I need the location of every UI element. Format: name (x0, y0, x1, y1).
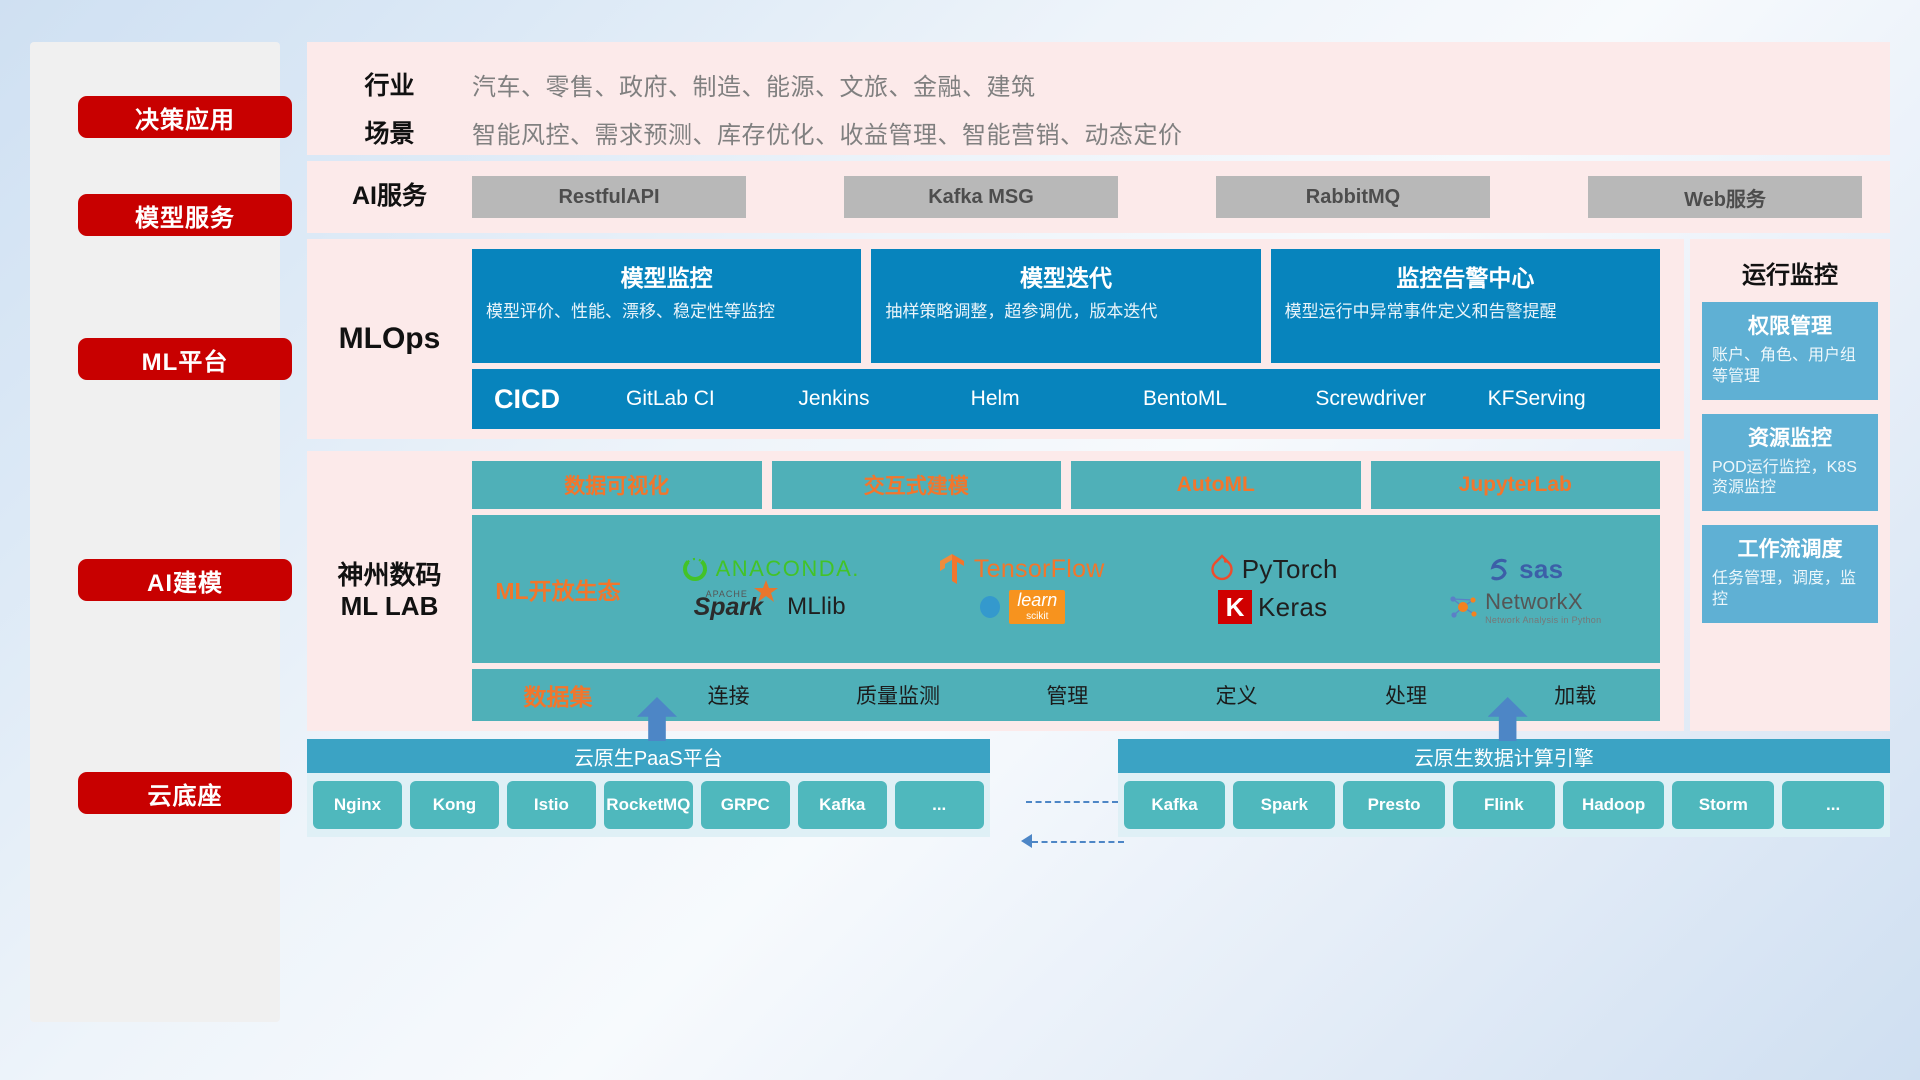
scikit-learn-logo[interactable]: learn scikit (977, 590, 1065, 624)
service-chip-kafka-msg[interactable]: Kafka MSG (844, 176, 1118, 218)
mlops-card-list: 模型监控 模型评价、性能、漂移、稳定性等监控 模型迭代 抽样策略调整，超参调优，… (472, 249, 1660, 363)
engine-chip-flink[interactable]: Flink (1453, 781, 1555, 829)
monitor-card-resource[interactable]: 资源监控 POD运行监控，K8S资源监控 (1702, 414, 1878, 512)
paas-chip-rocketmq[interactable]: RocketMQ (604, 781, 693, 829)
pytorch-flame-icon (1208, 553, 1236, 585)
ml-ecosystem-label: ML开放生态 (472, 572, 644, 606)
anaconda-mark-icon (680, 554, 710, 584)
lab-tab-jupyterlab[interactable]: JupyterLab (1371, 461, 1661, 509)
industry-label: 行业 (307, 66, 472, 102)
lab-tab-list: 数据可视化 交互式建模 AutoML JupyterLab (472, 461, 1660, 509)
card-desc: 抽样策略调整，超参调优，版本迭代 (885, 301, 1246, 323)
platform-bands: MLOps 模型监控 模型评价、性能、漂移、稳定性等监控 模型迭代 抽样策略调整… (307, 239, 1684, 731)
scikit-tag: scikit (1017, 611, 1057, 622)
lab-tab-interactive-modeling[interactable]: 交互式建模 (772, 461, 1062, 509)
architecture-stack: 行业 汽车、零售、政府、制造、能源、文旅、金融、建筑 场景 智能风控、需求预测、… (307, 42, 1890, 889)
paas-title: 云原生PaaS平台 (307, 739, 990, 773)
ml-lab-label: 神州数码 ML LAB (307, 560, 472, 621)
lab-tab-data-visualization[interactable]: 数据可视化 (472, 461, 762, 509)
scikit-blob-icon (977, 594, 1003, 620)
cloud-paas-block: 云原生PaaS平台 Nginx Kong Istio RocketMQ GRPC… (307, 739, 990, 889)
paas-chip-kong[interactable]: Kong (410, 781, 499, 829)
service-chip-restfulapi[interactable]: RestfulAPI (472, 176, 746, 218)
mllib-wordmark: MLlib (787, 593, 846, 621)
stage-chip-decision[interactable]: 决策应用 (78, 96, 292, 138)
networkx-logo[interactable]: NetworkX Network Analysis in Python (1447, 589, 1601, 625)
industry-row: 行业 汽车、零售、政府、制造、能源、文旅、金融、建筑 (307, 60, 1890, 108)
engine-chip-storm[interactable]: Storm (1672, 781, 1774, 829)
lab-tab-automl[interactable]: AutoML (1071, 461, 1361, 509)
platform-and-monitor: MLOps 模型监控 模型评价、性能、漂移、稳定性等监控 模型迭代 抽样策略调整… (307, 239, 1890, 731)
mlops-card-alert-center[interactable]: 监控告警中心 模型运行中异常事件定义和告警提醒 (1271, 249, 1660, 363)
paas-chip-grpc[interactable]: GRPC (701, 781, 790, 829)
cicd-item-bentoml[interactable]: BentoML (1143, 386, 1315, 412)
engine-chip-more[interactable]: ... (1782, 781, 1884, 829)
engine-chip-kafka[interactable]: Kafka (1124, 781, 1226, 829)
engine-chip-spark[interactable]: Spark (1233, 781, 1335, 829)
stage-chip-aimodeling[interactable]: AI建模 (78, 559, 292, 601)
service-chip-web[interactable]: Web服务 (1588, 176, 1862, 218)
scenario-label: 场景 (307, 114, 472, 150)
engine-title: 云原生数据计算引擎 (1118, 739, 1890, 773)
keras-wordmark: Keras (1258, 592, 1327, 623)
card-title: 监控告警中心 (1285, 259, 1646, 293)
paas-chip-list: Nginx Kong Istio RocketMQ GRPC Kafka ... (307, 773, 990, 837)
cloud-engine-block: 云原生数据计算引擎 Kafka Spark Presto Flink Hadoo… (1118, 739, 1890, 889)
monitor-card-permission[interactable]: 权限管理 账户、角色、用户组等管理 (1702, 302, 1878, 400)
mlops-card-model-iteration[interactable]: 模型迭代 抽样策略调整，超参调优，版本迭代 (871, 249, 1260, 363)
engine-chip-hadoop[interactable]: Hadoop (1563, 781, 1665, 829)
keras-logo[interactable]: K Keras (1218, 590, 1327, 624)
tensorflow-wordmark: TensorFlow (974, 555, 1105, 584)
dataset-item-process[interactable]: 处理 (1321, 680, 1490, 710)
dataset-item-connect[interactable]: 连接 (644, 680, 813, 710)
cicd-item-gitlab-ci[interactable]: GitLab CI (626, 386, 798, 412)
band-mlops: MLOps 模型监控 模型评价、性能、漂移、稳定性等监控 模型迭代 抽样策略调整… (307, 239, 1684, 439)
ml-lab-label-cn: 神州数码 (307, 560, 472, 591)
stage-chip-cloudbase[interactable]: 云底座 (78, 772, 292, 814)
ai-services-track: RestfulAPI Kafka MSG RabbitMQ Web服务 (472, 176, 1890, 218)
scenario-values: 智能风控、需求预测、库存优化、收益管理、智能营销、动态定价 (472, 115, 1183, 150)
dataset-item-define[interactable]: 定义 (1152, 680, 1321, 710)
card-desc: 模型运行中异常事件定义和告警提醒 (1285, 301, 1646, 323)
pytorch-wordmark: PyTorch (1242, 554, 1338, 585)
scikit-learn-wordmark: learn scikit (1009, 590, 1065, 624)
sas-logo[interactable]: sas (1485, 554, 1563, 585)
mlops-card-model-monitoring[interactable]: 模型监控 模型评价、性能、漂移、稳定性等监控 (472, 249, 861, 363)
cicd-item-kfserving[interactable]: KFServing (1488, 386, 1660, 412)
dataset-item-quality-monitoring[interactable]: 质量监测 (813, 680, 982, 710)
ai-services-label: AI服务 (307, 182, 472, 212)
ml-lab-label-en: ML LAB (307, 591, 472, 622)
paas-chip-more[interactable]: ... (895, 781, 984, 829)
stage-rail: 决策应用 模型服务 ML平台 AI建模 云底座 (30, 42, 280, 1022)
industry-values: 汽车、零售、政府、制造、能源、文旅、金融、建筑 (472, 67, 1036, 102)
card-title: 资源监控 (1712, 422, 1868, 452)
spark-mllib-logo[interactable]: APACHE Spark MLlib (694, 593, 846, 622)
sas-mark-icon (1485, 555, 1513, 583)
networkx-wordmark: NetworkX (1485, 589, 1583, 614)
ml-open-ecosystem: ML开放生态 ANACONDA. (472, 515, 1660, 663)
card-desc: 任务管理，调度，监控 (1712, 569, 1868, 611)
monitor-card-workflow[interactable]: 工作流调度 任务管理，调度，监控 (1702, 525, 1878, 623)
tensorflow-logo[interactable]: TensorFlow (938, 553, 1105, 585)
dataset-label: 数据集 (472, 678, 644, 712)
engine-chip-presto[interactable]: Presto (1343, 781, 1445, 829)
stage-chip-modelserve[interactable]: 模型服务 (78, 194, 292, 236)
cicd-item-helm[interactable]: Helm (971, 386, 1143, 412)
tensorflow-mark-icon (938, 553, 968, 585)
networkx-tagline: Network Analysis in Python (1485, 615, 1601, 625)
bidirectional-link-icon (1014, 787, 1132, 857)
runtime-monitor-panel: 运行监控 权限管理 账户、角色、用户组等管理 资源监控 POD运行监控，K8S资… (1690, 239, 1890, 731)
card-title: 权限管理 (1712, 310, 1868, 340)
card-title: 模型监控 (486, 259, 847, 293)
paas-chip-nginx[interactable]: Nginx (313, 781, 402, 829)
paas-chip-istio[interactable]: Istio (507, 781, 596, 829)
cicd-label: CICD (494, 384, 626, 415)
dataset-item-manage[interactable]: 管理 (983, 680, 1152, 710)
mlops-label: MLOps (307, 321, 472, 356)
card-desc: 账户、角色、用户组等管理 (1712, 346, 1868, 388)
band-ml-lab: 神州数码 ML LAB 数据可视化 交互式建模 AutoML JupyterLa… (307, 451, 1684, 731)
spark-apache-tag: APACHE (706, 589, 748, 599)
cicd-bar: CICD GitLab CI Jenkins Helm BentoML Scre… (472, 369, 1660, 429)
card-title: 模型迭代 (885, 259, 1246, 293)
spark-star-icon (753, 579, 779, 605)
anaconda-wordmark: ANACONDA. (716, 556, 860, 582)
cicd-item-jenkins[interactable]: Jenkins (798, 386, 970, 412)
band-cloud-base: 云原生PaaS平台 Nginx Kong Istio RocketMQ GRPC… (307, 739, 1890, 889)
runtime-monitor-title: 运行监控 (1702, 255, 1878, 290)
stage-chip-mlplatform[interactable]: ML平台 (78, 338, 292, 380)
engine-chip-list: Kafka Spark Presto Flink Hadoop Storm ..… (1118, 773, 1890, 837)
networkx-graph-icon (1447, 592, 1479, 622)
band-ai-services: AI服务 RestfulAPI Kafka MSG RabbitMQ Web服务 (307, 161, 1890, 233)
paas-chip-kafka[interactable]: Kafka (798, 781, 887, 829)
cicd-item-screwdriver[interactable]: Screwdriver (1315, 386, 1487, 412)
service-chip-rabbitmq[interactable]: RabbitMQ (1216, 176, 1490, 218)
sas-wordmark: sas (1519, 554, 1563, 585)
card-desc: 模型评价、性能、漂移、稳定性等监控 (486, 301, 847, 323)
pytorch-logo[interactable]: PyTorch (1208, 553, 1338, 585)
band-decision-applications: 行业 汽车、零售、政府、制造、能源、文旅、金融、建筑 场景 智能风控、需求预测、… (307, 42, 1890, 155)
keras-mark-icon: K (1218, 590, 1252, 624)
card-title: 工作流调度 (1712, 533, 1868, 563)
card-desc: POD运行监控，K8S资源监控 (1712, 458, 1868, 500)
scenario-row: 场景 智能风控、需求预测、库存优化、收益管理、智能营销、动态定价 (307, 108, 1890, 156)
